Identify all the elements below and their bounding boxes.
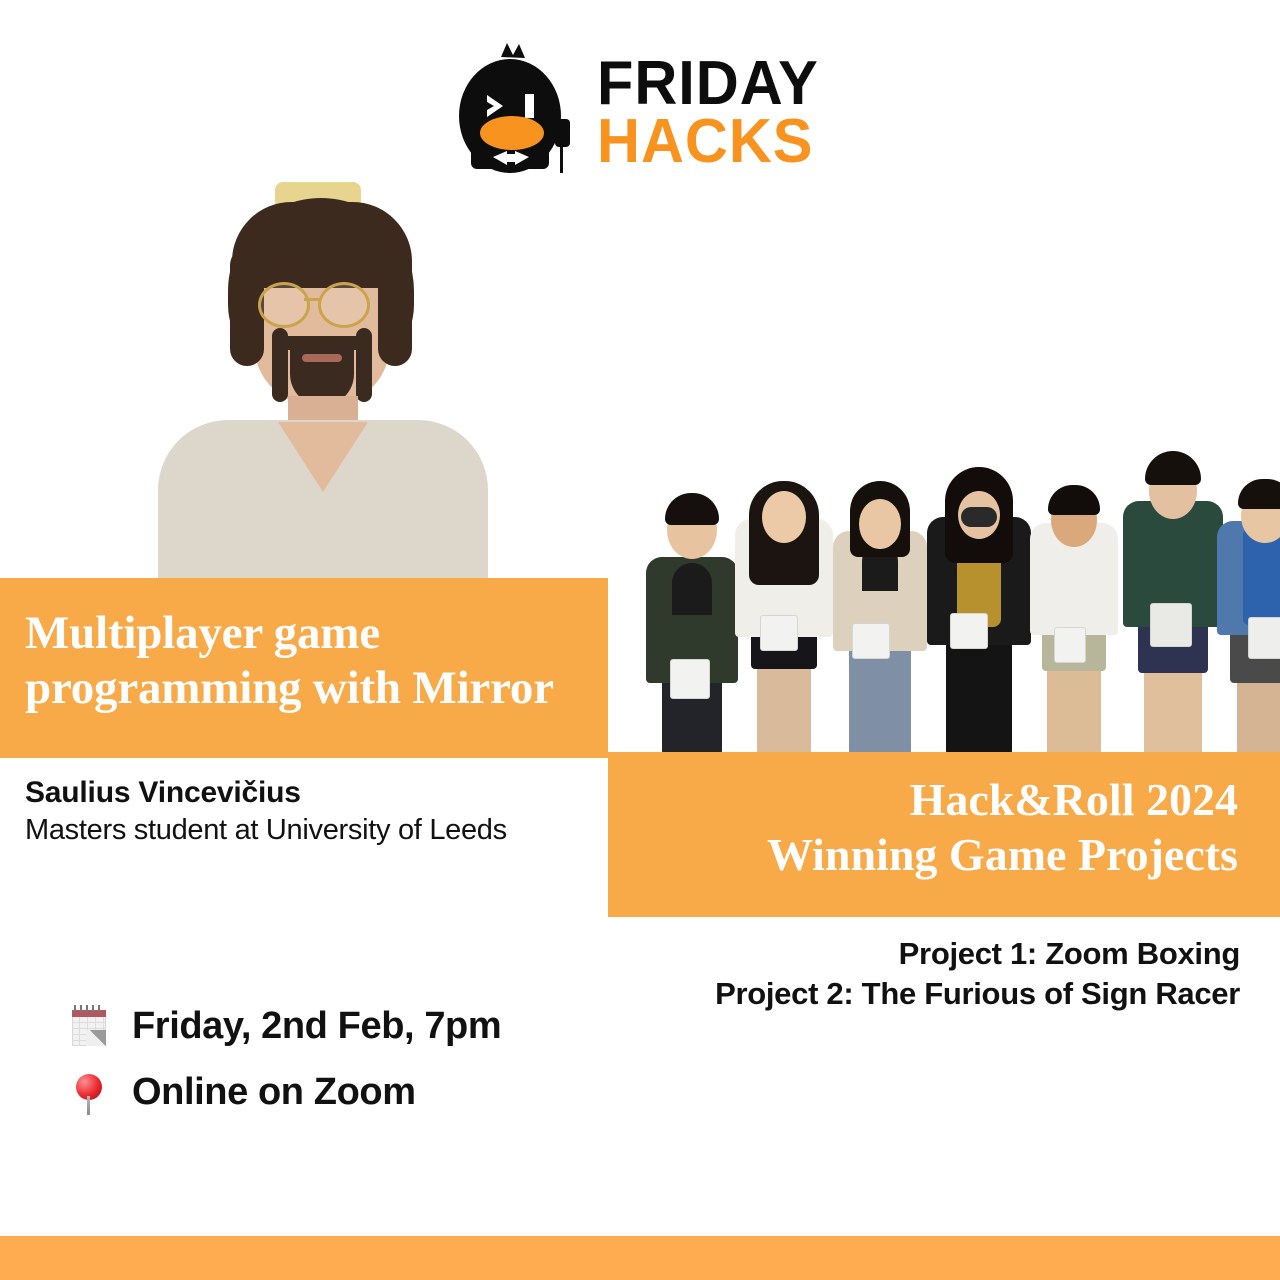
- calendar-emoji: [68, 1002, 110, 1050]
- hair-side-right: [378, 248, 412, 366]
- pushpin-emoji: [68, 1068, 110, 1116]
- event-date-row: Friday, 2nd Feb, 7pm: [68, 1002, 501, 1050]
- group-person: [1214, 475, 1280, 755]
- speaker-name: Saulius Vincevičius: [25, 774, 588, 812]
- brand-wordmark: FRIDAY HACKS: [597, 51, 828, 169]
- speaker-info-box: Saulius Vincevičius Masters student at U…: [0, 758, 608, 866]
- showcase-heading-band: Hack&Roll 2024 Winning Game Projects: [608, 752, 1280, 917]
- group-person: [1120, 445, 1226, 755]
- project-list: Project 1: Zoom Boxing Project 2: The Fu…: [715, 934, 1240, 1013]
- glasses-bridge: [304, 298, 320, 301]
- event-location-row: Online on Zoom: [68, 1068, 501, 1116]
- showcase-heading-line1: Hack&Roll 2024: [628, 772, 1238, 827]
- mouth: [302, 354, 342, 362]
- winning-teams-group-photo: [614, 425, 1280, 755]
- moustache: [282, 336, 362, 350]
- speaker-role: Masters student at University of Leeds: [25, 812, 588, 850]
- eyebrow-right: [322, 274, 362, 281]
- group-person: [644, 483, 740, 755]
- group-person: [830, 469, 930, 755]
- logo-friday-text: FRIDAY: [597, 55, 819, 112]
- project-item: Project 2: The Furious of Sign Racer: [715, 974, 1240, 1014]
- event-details: Friday, 2nd Feb, 7pm Online on Zoom: [68, 1002, 501, 1134]
- talk-title-band: Multiplayer game programming with Mirror: [0, 578, 608, 758]
- speaker-portrait-photo: [150, 178, 495, 598]
- group-person: [732, 465, 836, 755]
- logo-hacks-text: HACKS: [597, 113, 819, 170]
- event-date-text: Friday, 2nd Feb, 7pm: [132, 1005, 501, 1048]
- glasses-lens-right: [318, 282, 370, 328]
- brand-logo: FRIDAY HACKS: [455, 38, 825, 183]
- duck-terminal-mascot-icon: [455, 41, 575, 181]
- glasses-lens-left: [258, 282, 310, 328]
- eyebrow-left: [260, 274, 300, 281]
- talk-title: Multiplayer game programming with Mirror: [25, 606, 578, 716]
- footer-accent-strip: [0, 1236, 1280, 1280]
- event-poster: FRIDAY HACKS: [0, 0, 1280, 1280]
- group-person: [1026, 471, 1122, 755]
- event-location-text: Online on Zoom: [132, 1071, 416, 1114]
- group-person: [924, 459, 1034, 755]
- project-item: Project 1: Zoom Boxing: [715, 934, 1240, 974]
- showcase-heading-line2: Winning Game Projects: [628, 827, 1238, 882]
